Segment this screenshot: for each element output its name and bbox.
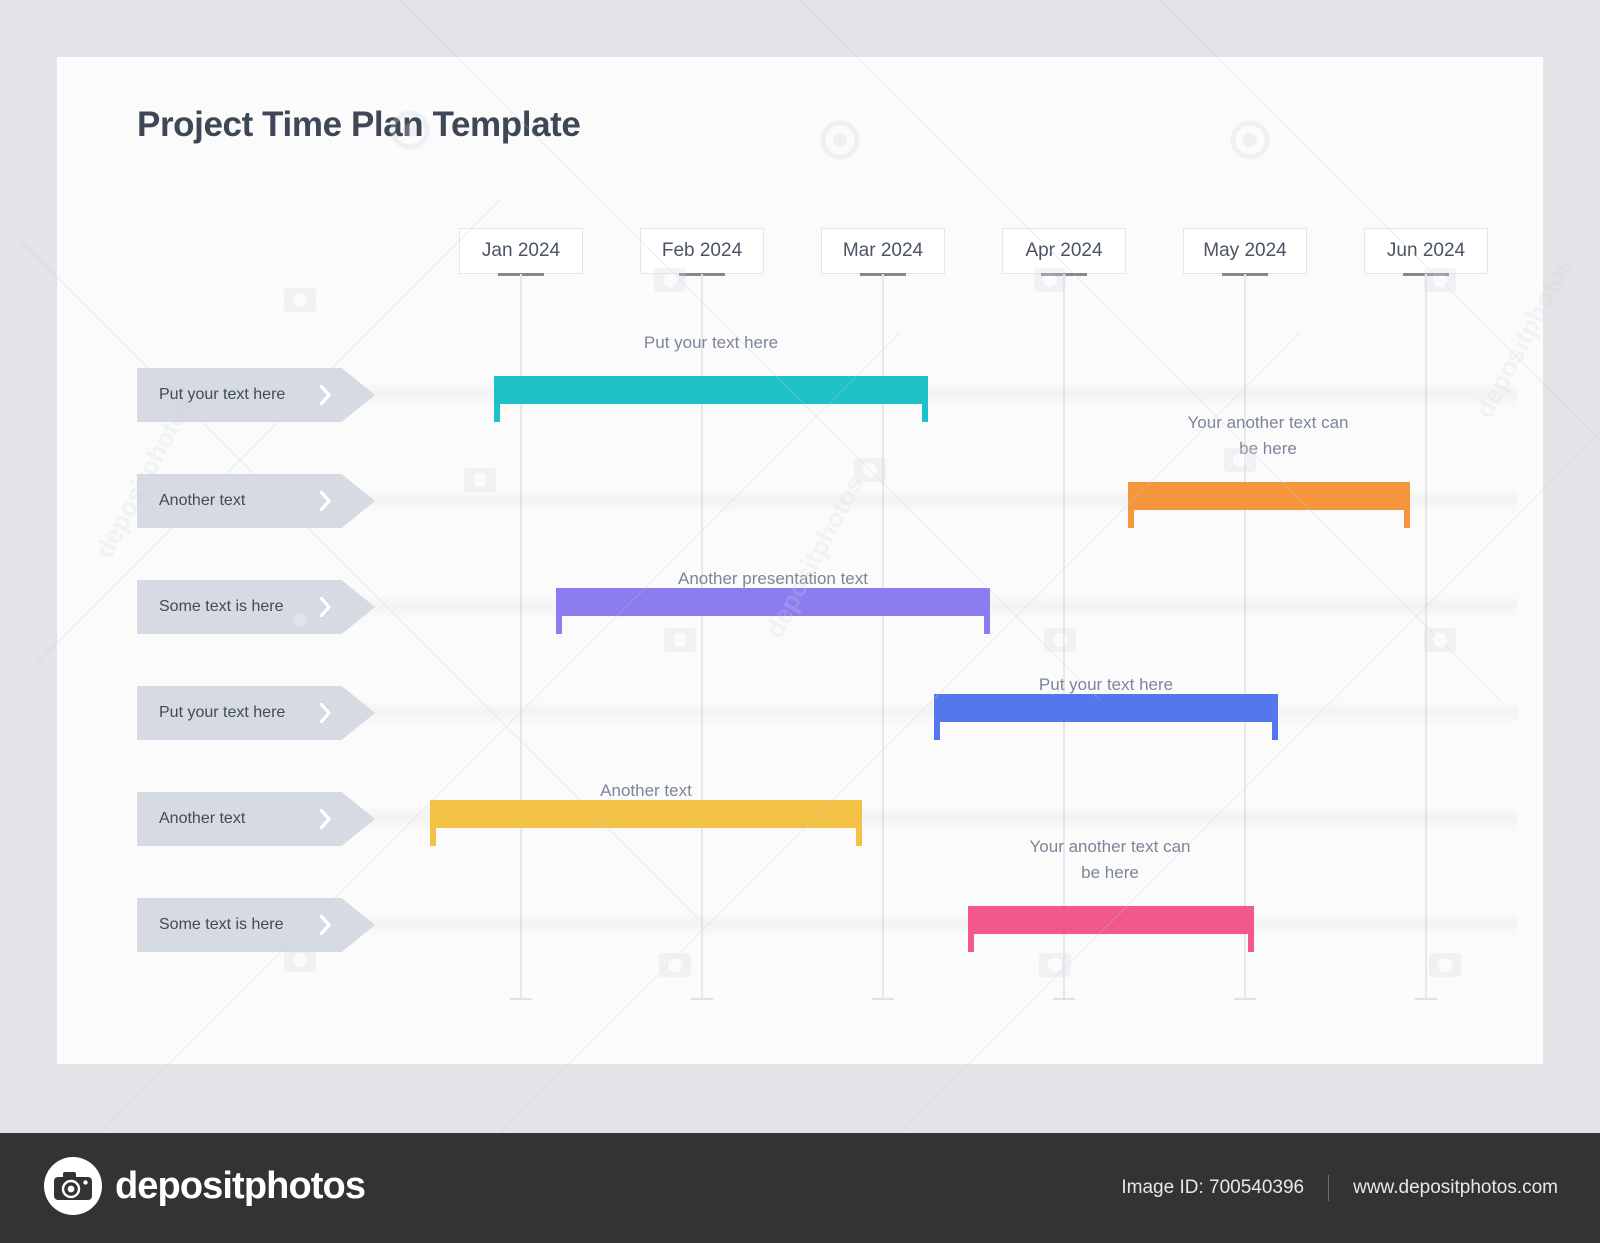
gridline-foot-3 — [872, 998, 894, 1000]
brand-logo: depositphotos — [44, 1157, 365, 1215]
task-label-text: Put your text here — [159, 386, 285, 404]
month-label: Jun 2024 — [1387, 240, 1465, 262]
month-header-4[interactable]: Apr 2024 — [1002, 228, 1126, 274]
gantt-bar-end-marker — [1404, 510, 1410, 528]
gridline-foot-4 — [1053, 998, 1075, 1000]
depositphotos-footer: depositphotos Image ID: 700540396 www.de… — [0, 1133, 1600, 1243]
gantt-bar-body — [934, 694, 1278, 722]
gantt-bar-body — [1128, 482, 1410, 510]
camera-icon — [44, 1157, 102, 1215]
gantt-bar-end-marker — [984, 616, 990, 634]
chevron-right-icon — [320, 597, 331, 617]
gantt-bar-body — [968, 906, 1254, 934]
gantt-bar-start-marker — [934, 722, 940, 740]
gantt-bar-start-marker — [1128, 510, 1134, 528]
month-label: Mar 2024 — [843, 240, 923, 262]
gantt-bar-1[interactable] — [494, 376, 928, 422]
chevron-right-icon — [320, 491, 331, 511]
gridline-5 — [1244, 274, 1246, 1000]
gantt-bar-end-marker — [856, 828, 862, 846]
month-header-3[interactable]: Mar 2024 — [821, 228, 945, 274]
month-label: May 2024 — [1203, 240, 1286, 262]
row-band-6 — [317, 912, 1517, 938]
task-label-text: Some text is here — [159, 598, 284, 616]
chevron-right-icon — [320, 385, 331, 405]
gantt-bar-end-marker — [922, 404, 928, 422]
month-label: Feb 2024 — [662, 240, 742, 262]
task-label-tag-2[interactable]: Another text — [137, 474, 375, 528]
gridline-foot-1 — [510, 998, 532, 1000]
gridline-6 — [1425, 274, 1427, 1000]
bar-caption-1: Put your text here — [494, 330, 928, 356]
gantt-bar-end-marker — [1272, 722, 1278, 740]
gantt-bar-2[interactable] — [1128, 482, 1410, 528]
task-label-text: Another text — [159, 492, 245, 510]
task-label-tag-4[interactable]: Put your text here — [137, 686, 375, 740]
gantt-bar-start-marker — [556, 616, 562, 634]
month-label: Jan 2024 — [482, 240, 560, 262]
row-band-4 — [317, 700, 1517, 726]
month-header-1[interactable]: Jan 2024 — [459, 228, 583, 274]
chevron-right-icon — [320, 703, 331, 723]
gridline-4 — [1063, 274, 1065, 1000]
gantt-bar-4[interactable] — [934, 694, 1278, 740]
task-label-text: Some text is here — [159, 916, 284, 934]
gantt-bar-body — [494, 376, 928, 404]
chevron-right-icon — [320, 809, 331, 829]
gantt-bar-3[interactable] — [556, 588, 990, 634]
gantt-bar-5[interactable] — [430, 800, 862, 846]
gantt-bar-body — [430, 800, 862, 828]
bar-caption-6: Your another text can be here — [960, 834, 1260, 886]
image-id-label: Image ID: 700540396 — [1121, 1177, 1304, 1199]
gantt-bar-start-marker — [494, 404, 500, 422]
task-label-tag-6[interactable]: Some text is here — [137, 898, 375, 952]
footer-divider — [1328, 1175, 1329, 1201]
gantt-bar-body — [556, 588, 990, 616]
task-label-text: Put your text here — [159, 704, 285, 722]
gantt-bar-6[interactable] — [968, 906, 1254, 952]
month-header-2[interactable]: Feb 2024 — [640, 228, 764, 274]
gridline-foot-5 — [1234, 998, 1256, 1000]
task-label-tag-1[interactable]: Put your text here — [137, 368, 375, 422]
page-title: Project Time Plan Template — [137, 105, 580, 145]
bar-caption-2: Your another text can be here — [1118, 410, 1418, 462]
gridline-foot-2 — [691, 998, 713, 1000]
gantt-bar-end-marker — [1248, 934, 1254, 952]
month-header-6[interactable]: Jun 2024 — [1364, 228, 1488, 274]
task-label-tag-5[interactable]: Another text — [137, 792, 375, 846]
month-label: Apr 2024 — [1025, 240, 1102, 262]
task-label-text: Another text — [159, 810, 245, 828]
gantt-bar-start-marker — [430, 828, 436, 846]
website-link[interactable]: www.depositphotos.com — [1353, 1177, 1558, 1199]
task-label-tag-3[interactable]: Some text is here — [137, 580, 375, 634]
brand-name: depositphotos — [115, 1165, 365, 1208]
chevron-right-icon — [320, 915, 331, 935]
gantt-bar-start-marker — [968, 934, 974, 952]
month-header-5[interactable]: May 2024 — [1183, 228, 1307, 274]
gantt-card: Project Time Plan Template Jan 2024Feb 2… — [57, 57, 1543, 1064]
gridline-foot-6 — [1415, 998, 1437, 1000]
footer-meta: Image ID: 700540396 www.depositphotos.co… — [1121, 1175, 1558, 1201]
